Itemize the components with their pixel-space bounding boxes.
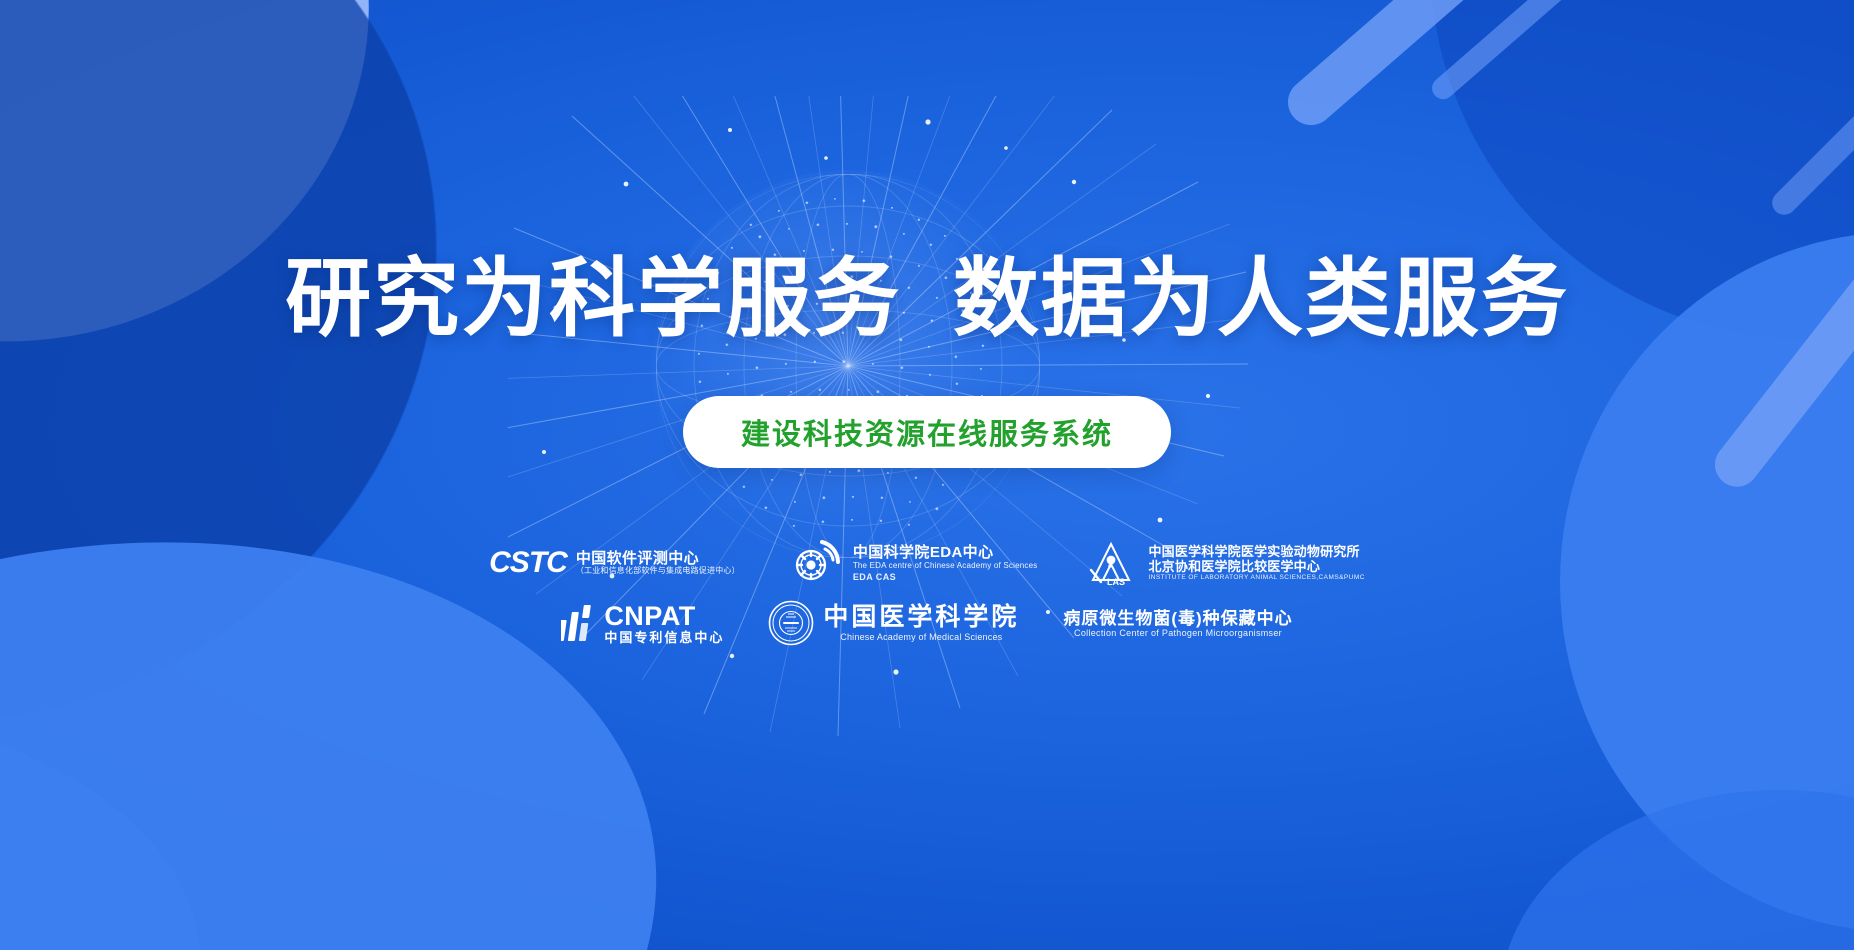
cstc-name-sub: （工业和信息化部软件与集成电路促进中心）: [576, 567, 740, 576]
partner-logos: CSTC 中国软件评测中心 （工业和信息化部软件与集成电路促进中心）: [489, 540, 1365, 646]
partner-logo-eda-cas[interactable]: 中国科学院EDA中心 The EDA centre of Chinese Aca…: [792, 540, 1038, 586]
ilas-name-cn-line1: 中国医学科学院医学实验动物研究所: [1148, 545, 1364, 560]
ilas-emblem-icon: LAS: [1089, 540, 1139, 586]
eda-cas-name-sub: The EDA centre of Chinese Academy of Sci…: [853, 562, 1038, 571]
partner-logo-cams[interactable]: 中国医学科学院 Chinese Academy of Medical Scien…: [768, 600, 1019, 646]
partner-logo-ilas[interactable]: LAS 中国医学科学院医学实验动物研究所 北京协和医学院比较医学中心 INSTI…: [1089, 540, 1364, 586]
page-title: 研究为科学服务 数据为人类服务: [285, 255, 1569, 344]
cnpat-wordmark: CNPAT: [604, 601, 724, 631]
cnpat-name-cn: 中国专利信息中心: [604, 631, 724, 646]
banner-content: 研究为科学服务 数据为人类服务 建设科技资源在线服务系统 CSTC 中国软件评测…: [0, 0, 1854, 950]
ilas-name-sub: INSTITUTE OF LABORATORY ANIMAL SCIENCES,…: [1148, 574, 1364, 581]
partner-logo-cnpat[interactable]: CNPAT 中国专利信息中心: [561, 601, 724, 646]
cams-name-cn: 中国医学科学院: [823, 604, 1019, 632]
eda-cas-emblem-icon: [792, 540, 844, 586]
partner-logo-pathogen-center[interactable]: 病原微生物菌(毒)种保藏中心 Collection Center of Path…: [1063, 609, 1292, 638]
partner-logo-row-1: CSTC 中国软件评测中心 （工业和信息化部软件与集成电路促进中心）: [489, 540, 1365, 586]
partner-logo-row-2: CNPAT 中国专利信息中心: [561, 600, 1292, 646]
subtitle-pill[interactable]: 建设科技资源在线服务系统: [683, 396, 1171, 468]
cams-seal-icon: [768, 600, 814, 646]
svg-text:LAS: LAS: [1107, 577, 1125, 586]
cams-name-sub: Chinese Academy of Medical Sciences: [823, 632, 1019, 642]
ilas-name-cn-line2: 北京协和医学院比较医学中心: [1148, 560, 1364, 575]
cstc-name-cn: 中国软件评测中心: [576, 551, 740, 568]
subtitle-pill-label: 建设科技资源在线服务系统: [741, 419, 1113, 451]
eda-cas-emblem-label: EDA CAS: [853, 572, 1038, 582]
cstc-wordmark-icon: CSTC: [489, 546, 567, 580]
pathogen-center-name-sub: Collection Center of Pathogen Microorgan…: [1074, 628, 1282, 638]
hero-banner: 研究为科学服务 数据为人类服务 建设科技资源在线服务系统 CSTC 中国软件评测…: [0, 0, 1854, 950]
partner-logo-cstc[interactable]: CSTC 中国软件评测中心 （工业和信息化部软件与集成电路促进中心）: [489, 546, 740, 580]
eda-cas-name-cn: 中国科学院EDA中心: [853, 545, 1038, 562]
pathogen-center-name-cn: 病原微生物菌(毒)种保藏中心: [1063, 609, 1292, 628]
cnpat-bars-icon: [561, 604, 595, 642]
